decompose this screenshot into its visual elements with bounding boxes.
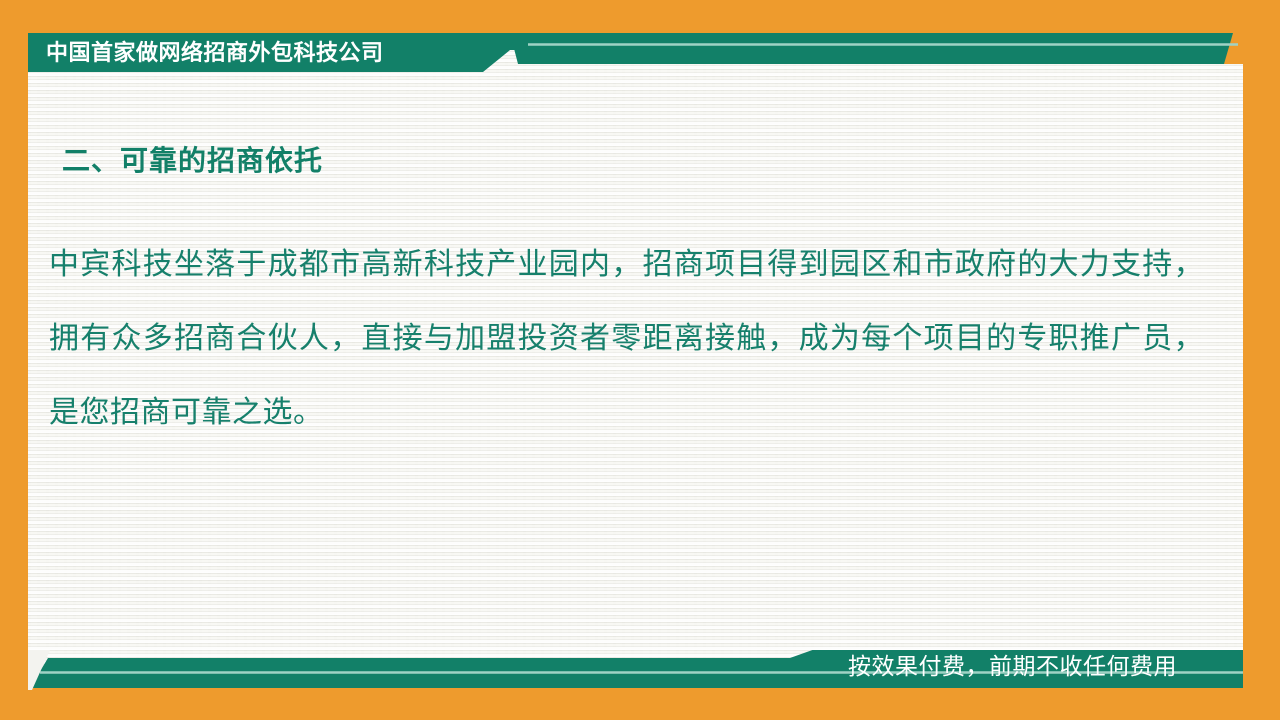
page-title: 二、可靠的招商依托 [62,139,323,179]
footer-tagline: 按效果付费，前期不收任何费用 [848,648,1177,684]
slide-root: 二、可靠的招商依托 中宾科技坐落于成都市高新科技产业园内，招商项目得到园区和市政… [0,0,1280,720]
slide-content: 二、可靠的招商依托 中宾科技坐落于成都市高新科技产业园内，招商项目得到园区和市政… [28,73,1243,658]
header-band-right-strip [510,33,1243,64]
body-paragraph: 中宾科技坐落于成都市高新科技产业园内，招商项目得到园区和市政府的大力支持，拥有众… [49,228,1204,450]
header-title: 中国首家做网络招商外包科技公司 [46,38,384,68]
